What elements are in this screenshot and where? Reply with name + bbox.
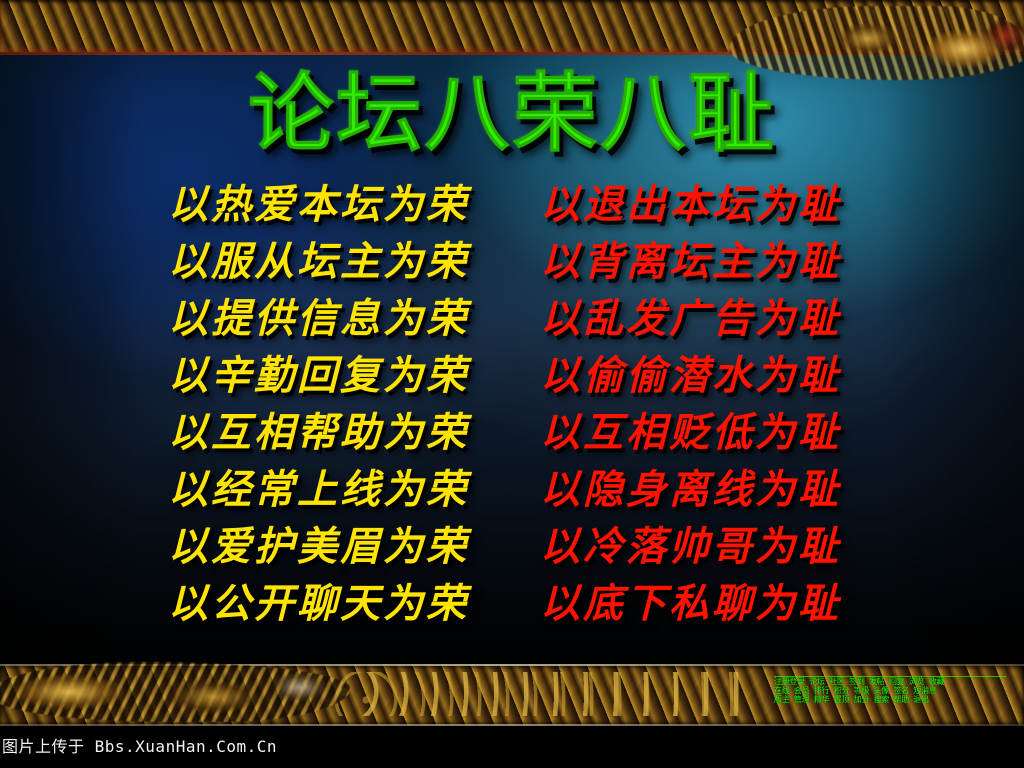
honor-line: 以服从坛主为荣 bbox=[168, 237, 528, 287]
shame-line: 以隐身离线为耻 bbox=[540, 465, 900, 515]
shame-line: 以偷偷潜水为耻 bbox=[540, 351, 900, 401]
shame-line: 以退出本坛为耻 bbox=[540, 180, 900, 230]
couplet-row: 以公开聊天为荣 以底下私聊为耻 bbox=[0, 575, 1024, 632]
couplet-row: 以辛勤回复为荣 以偷偷潜水为耻 bbox=[0, 347, 1024, 404]
green-overlay-line: 版主 管理 精华 置顶 加分 搜索 帮助 退出 bbox=[774, 695, 1006, 704]
page-title: 论坛八荣八耻 bbox=[0, 66, 1024, 162]
shame-line: 以互相贬低为耻 bbox=[540, 408, 900, 458]
honor-line: 以公开聊天为荣 bbox=[168, 579, 528, 629]
poster-image: 论坛八荣八耻 以热爱本坛为荣 以退出本坛为耻 以服从坛主为荣 以背离坛主为耻 以… bbox=[0, 0, 1024, 768]
green-overlay-line: 注册登录 论坛 社区 签到 发帖 回复 浏览 收藏 bbox=[774, 676, 1006, 686]
couplet-row: 以经常上线为荣 以隐身离线为耻 bbox=[0, 461, 1024, 518]
shame-line: 以背离坛主为耻 bbox=[540, 237, 900, 287]
green-overlay-text: 注册登录 论坛 社区 签到 发帖 回复 浏览 收藏 在线 会员 排行 积分 等级… bbox=[774, 676, 1006, 714]
honor-line: 以提供信息为荣 bbox=[168, 294, 528, 344]
couplet-row: 以热爱本坛为荣 以退出本坛为耻 bbox=[0, 176, 1024, 233]
honor-line: 以热爱本坛为荣 bbox=[168, 180, 528, 230]
watermark-bar: 图片上传于 Bbs.XuanHan.Com.Cn bbox=[0, 726, 1024, 768]
honor-line: 以辛勤回复为荣 bbox=[168, 351, 528, 401]
honor-line: 以经常上线为荣 bbox=[168, 465, 528, 515]
shame-line: 以底下私聊为耻 bbox=[540, 579, 900, 629]
watermark-text: 图片上传于 Bbs.XuanHan.Com.Cn bbox=[0, 737, 277, 757]
couplet-row: 以服从坛主为荣 以背离坛主为耻 bbox=[0, 233, 1024, 290]
couplet-row: 以提供信息为荣 以乱发广告为耻 bbox=[0, 290, 1024, 347]
ornate-top-frame bbox=[0, 0, 1024, 52]
shame-line: 以冷落帅哥为耻 bbox=[540, 522, 900, 572]
honor-line: 以互相帮助为荣 bbox=[168, 408, 528, 458]
shame-line: 以乱发广告为耻 bbox=[540, 294, 900, 344]
couplet-row: 以互相帮助为荣 以互相贬低为耻 bbox=[0, 404, 1024, 461]
honor-line: 以爱护美眉为荣 bbox=[168, 522, 528, 572]
couplet-list: 以热爱本坛为荣 以退出本坛为耻 以服从坛主为荣 以背离坛主为耻 以提供信息为荣 … bbox=[0, 176, 1024, 632]
couplet-row: 以爱护美眉为荣 以冷落帅哥为耻 bbox=[0, 518, 1024, 575]
green-overlay-line: 在线 会员 排行 积分 等级 头像 签名 短消息 bbox=[774, 686, 1006, 695]
